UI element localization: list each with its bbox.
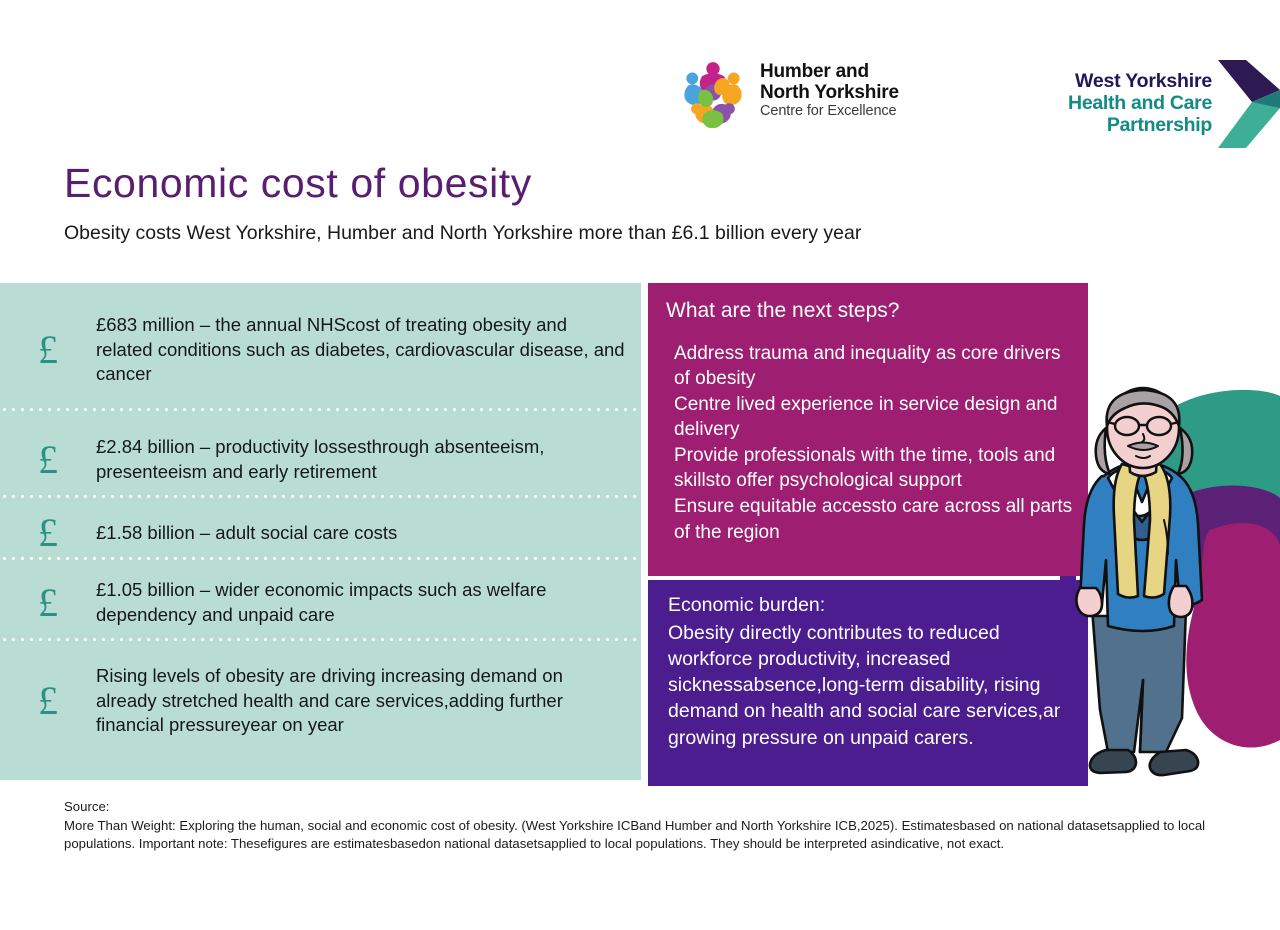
logo-wy-line1: West Yorkshire	[1010, 71, 1212, 93]
page-subtitle: Obesity costs West Yorkshire, Humber and…	[64, 222, 861, 245]
economic-burden-body: Obesity directly contributes to reduced …	[668, 620, 1076, 751]
list-item: Centre lived experience in service desig…	[674, 392, 1074, 442]
cost-item-text: £683 million – the annual NHScost of tre…	[96, 313, 641, 388]
logo-hny-line2: North Yorkshire	[760, 83, 899, 104]
logo-west-yorkshire: West Yorkshire Health and Care Partnersh…	[1010, 60, 1280, 148]
list-item: Ensure equitable accessto care across al…	[674, 494, 1074, 544]
divider	[0, 557, 641, 560]
next-steps-list: Address trauma and inequality as core dr…	[674, 341, 1074, 546]
logo-wy-line2: Health and Care Partnership	[1010, 93, 1212, 137]
source-body: More Than Weight: Exploring the human, s…	[64, 817, 1224, 854]
cost-breakdown-panel: £ £683 million – the annual NHScost of t…	[0, 283, 641, 780]
list-item: Address trauma and inequality as core dr…	[674, 341, 1074, 391]
logo-humber-north-yorkshire: Humber and North Yorkshire Centre for Ex…	[676, 54, 899, 128]
pound-icon: £	[0, 330, 96, 370]
source-label: Source:	[64, 798, 1224, 817]
pound-icon: £	[0, 583, 96, 623]
cost-item-text: £1.58 billion – adult social care costs	[96, 521, 411, 546]
list-item: £ £1.05 billion – wider economic impacts…	[0, 567, 641, 639]
infographic-page: Humber and North Yorkshire Centre for Ex…	[0, 0, 1280, 930]
divider	[0, 638, 641, 641]
cost-item-text: £1.05 billion – wider economic impacts s…	[96, 578, 641, 628]
logo-wy-text: West Yorkshire Health and Care Partnersh…	[1010, 71, 1212, 136]
list-item: £ £1.58 billion – adult social care cost…	[0, 505, 641, 561]
divider	[0, 408, 641, 411]
page-title: Economic cost of obesity	[64, 160, 532, 207]
source-note: Source: More Than Weight: Exploring the …	[64, 798, 1224, 854]
pound-icon: £	[0, 681, 96, 721]
divider	[0, 495, 641, 498]
logo-hny-line1: Humber and	[760, 62, 899, 83]
cost-item-text: Rising levels of obesity are driving inc…	[96, 664, 641, 739]
chevron-right-logo-icon	[1218, 60, 1280, 148]
panel-edge-magenta	[1060, 380, 1076, 488]
pound-icon: £	[0, 440, 96, 480]
logo-hny-text: Humber and North Yorkshire Centre for Ex…	[760, 62, 899, 120]
list-item: Provide professionals with the time, too…	[674, 443, 1074, 493]
older-person-illustration	[1060, 380, 1280, 790]
list-item: £ Rising levels of obesity are driving i…	[0, 649, 641, 753]
logo-hny-line3: Centre for Excellence	[760, 104, 899, 120]
panel-edge-purple	[1060, 576, 1076, 780]
next-steps-heading: What are the next steps?	[666, 299, 899, 323]
economic-burden-heading: Economic burden:	[668, 594, 825, 617]
cost-list: £ £683 million – the annual NHScost of t…	[0, 283, 641, 780]
cost-item-text: £2.84 billion – productivity lossesthrou…	[96, 435, 641, 485]
people-circle-logo-icon	[676, 54, 750, 128]
header-logos: Humber and North Yorkshire Centre for Ex…	[0, 0, 1280, 155]
list-item: £ £2.84 billion – productivity lossesthr…	[0, 421, 641, 499]
pound-icon: £	[0, 513, 96, 553]
list-item: £ £683 million – the annual NHScost of t…	[0, 301, 641, 399]
economic-burden-panel: Economic burden: Obesity directly contri…	[648, 580, 1088, 786]
next-steps-panel: What are the next steps? Address trauma …	[648, 283, 1088, 576]
